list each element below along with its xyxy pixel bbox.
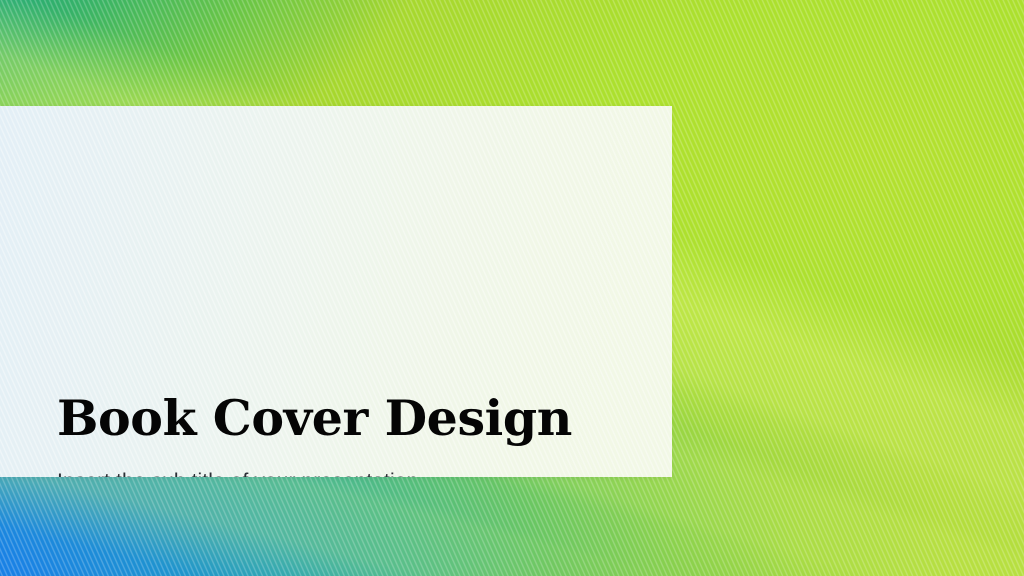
slide-subtitle: Insert the sub title of your presentatio… [57,470,418,477]
title-card-panel: Book Cover Design Insert the sub title o… [0,106,672,477]
page-title: Book Cover Design [57,394,572,444]
presentation-slide: Book Cover Design Insert the sub title o… [0,0,1024,576]
